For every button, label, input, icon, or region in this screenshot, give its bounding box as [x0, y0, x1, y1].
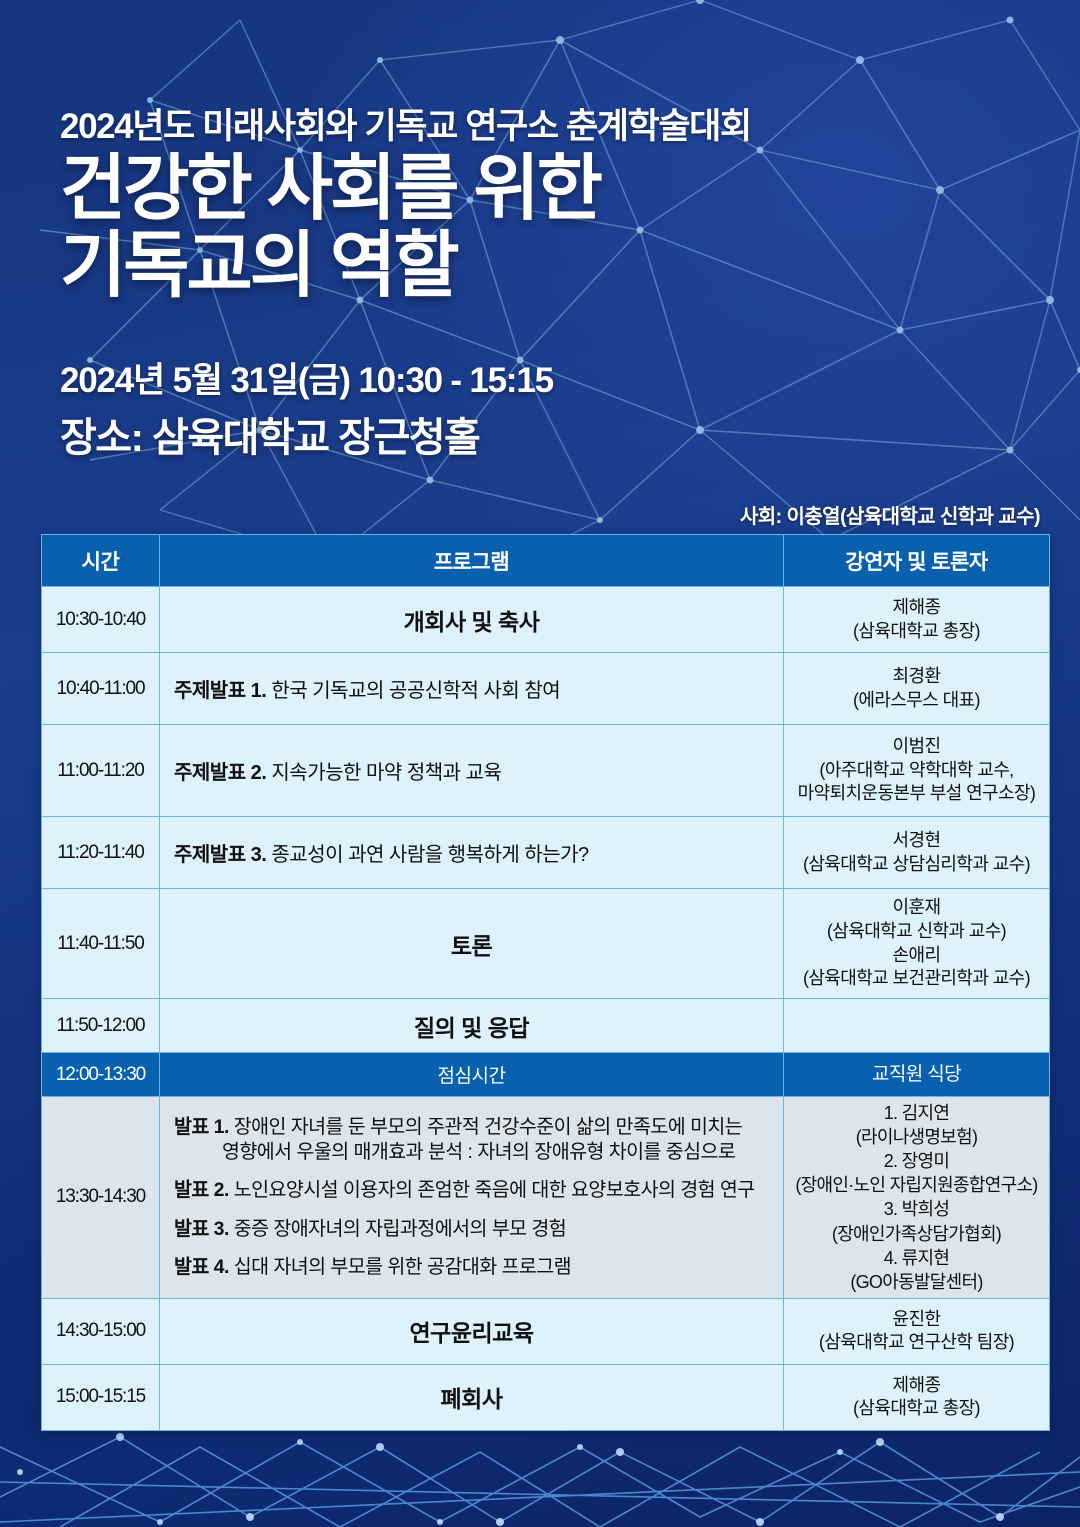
cell-speaker — [784, 999, 1050, 1053]
moderator-label: 사회: 이충열(삼육대학교 신학과 교수) — [740, 500, 1040, 529]
cell-program: 주제발표 2. 지속가능한 마약 정책과 교육 — [160, 725, 784, 817]
program-label: 주제발표 2. — [174, 762, 271, 784]
col-header-time: 시간 — [42, 535, 160, 587]
cell-speaker: 1. 김지연(라이나생명보험)2. 장영미(장애인·노인 자립지원종합연구소)3… — [784, 1097, 1050, 1299]
table-row: 13:30-14:30발표 1. 장애인 자녀를 둔 부모의 주관적 건강수준이… — [42, 1097, 1050, 1299]
title-line-1: 건강한 사회를 위한 — [60, 149, 600, 229]
cell-time: 10:30-10:40 — [42, 587, 160, 653]
schedule-table: 시간 프로그램 강연자 및 토론자 10:30-10:40개회사 및 축사제해종… — [41, 534, 1050, 1431]
program-title: 지속가능한 마약 정책과 교육 — [271, 762, 501, 784]
schedule-body: 10:30-10:40개회사 및 축사제해종(삼육대학교 총장)10:40-11… — [42, 587, 1050, 1431]
cell-program: 점심시간 — [160, 1053, 784, 1097]
cell-time: 14:30-15:00 — [42, 1298, 160, 1364]
cell-time: 10:40-11:00 — [42, 653, 160, 725]
conference-kicker: 2024년도 미래사회와 기독교 연구소 춘계학술대회 — [60, 98, 751, 149]
table-header-row: 시간 프로그램 강연자 및 토론자 — [42, 535, 1050, 587]
cell-program: 연구윤리교육 — [160, 1298, 784, 1364]
cell-program: 주제발표 1. 한국 기독교의 공공신학적 사회 참여 — [160, 653, 784, 725]
cell-program: 토론 — [160, 889, 784, 999]
cell-program: 개회사 및 축사 — [160, 587, 784, 653]
event-venue: 장소: 삼육대학교 장근청홀 — [60, 405, 479, 463]
table-row: 12:00-13:30점심시간교직원 식당 — [42, 1053, 1050, 1097]
program-title: 한국 기독교의 공공신학적 사회 참여 — [271, 680, 560, 702]
cell-speaker: 윤진한(삼육대학교 연구산학 팀장) — [784, 1298, 1050, 1364]
presentation-item: 발표 2. 노인요양시설 이용자의 존엄한 죽음에 대한 요양보호사의 경험 연… — [174, 1178, 773, 1203]
cell-time: 12:00-13:30 — [42, 1053, 160, 1097]
page-title: 건강한 사회를 위한 기독교의 역할 — [60, 155, 600, 301]
presentation-label: 발표 3. — [174, 1218, 234, 1240]
cell-speaker: 최경환(에라스무스 대표) — [784, 653, 1050, 725]
cell-program: 질의 및 응답 — [160, 999, 784, 1053]
cell-speaker: 제해종(삼육대학교 총장) — [784, 1364, 1050, 1430]
cell-time: 11:50-12:00 — [42, 999, 160, 1053]
col-header-speaker: 강연자 및 토론자 — [784, 535, 1050, 587]
presentation-title: 십대 자녀의 부모를 위한 공감대화 프로그램 — [234, 1256, 571, 1278]
cell-time: 11:00-11:20 — [42, 725, 160, 817]
cell-time: 11:40-11:50 — [42, 889, 160, 999]
cell-program: 폐회사 — [160, 1364, 784, 1430]
cell-time: 15:00-15:15 — [42, 1364, 160, 1430]
table-row: 14:30-15:00연구윤리교육윤진한(삼육대학교 연구산학 팀장) — [42, 1298, 1050, 1364]
table-row: 11:20-11:40주제발표 3. 종교성이 과연 사람을 행복하게 하는가?… — [42, 817, 1050, 889]
presentation-title-cont: 영향에서 우울의 매개효과 분석 : 자녀의 장애유형 차이를 중심으로 — [174, 1140, 773, 1165]
presentation-title: 노인요양시설 이용자의 존엄한 죽음에 대한 요양보호사의 경험 연구 — [234, 1179, 755, 1201]
cell-time: 11:20-11:40 — [42, 817, 160, 889]
presentation-title: 장애인 자녀를 둔 부모의 주관적 건강수준이 삶의 만족도에 미치는 — [234, 1116, 742, 1138]
program-label: 주제발표 1. — [174, 680, 271, 702]
event-date: 2024년 5월 31일(금) 10:30 - 15:15 — [60, 352, 553, 403]
cell-speaker: 이훈재(삼육대학교 신학과 교수)손애리(삼육대학교 보건관리학과 교수) — [784, 889, 1050, 999]
presentation-label: 발표 2. — [174, 1179, 234, 1201]
cell-speaker: 교직원 식당 — [784, 1053, 1050, 1097]
cell-speaker: 제해종(삼육대학교 총장) — [784, 587, 1050, 653]
title-line-2: 기독교의 역할 — [60, 232, 600, 300]
cell-speaker: 이범진(아주대학교 약학대학 교수,마약퇴치운동본부 부설 연구소장) — [784, 725, 1050, 817]
cell-speaker: 서경현(삼육대학교 상담심리학과 교수) — [784, 817, 1050, 889]
table-row: 11:00-11:20주제발표 2. 지속가능한 마약 정책과 교육이범진(아주… — [42, 725, 1050, 817]
presentation-label: 발표 1. — [174, 1116, 234, 1138]
network-pattern-bottom — [0, 1427, 1080, 1527]
table-row: 10:30-10:40개회사 및 축사제해종(삼육대학교 총장) — [42, 587, 1050, 653]
table-row: 10:40-11:00주제발표 1. 한국 기독교의 공공신학적 사회 참여최경… — [42, 653, 1050, 725]
col-header-program: 프로그램 — [160, 535, 784, 587]
program-label: 주제발표 3. — [174, 844, 271, 866]
poster-root: 2024년도 미래사회와 기독교 연구소 춘계학술대회 건강한 사회를 위한 기… — [0, 0, 1080, 1527]
presentation-item: 발표 3. 중증 장애자녀의 자립과정에서의 부모 경험 — [174, 1217, 773, 1242]
presentation-label: 발표 4. — [174, 1256, 234, 1278]
presentation-title: 중증 장애자녀의 자립과정에서의 부모 경험 — [234, 1218, 567, 1240]
cell-program: 주제발표 3. 종교성이 과연 사람을 행복하게 하는가? — [160, 817, 784, 889]
cell-program: 발표 1. 장애인 자녀를 둔 부모의 주관적 건강수준이 삶의 만족도에 미치… — [160, 1097, 784, 1299]
presentation-item: 발표 4. 십대 자녀의 부모를 위한 공감대화 프로그램 — [174, 1255, 773, 1280]
table-row: 11:50-12:00질의 및 응답 — [42, 999, 1050, 1053]
presentation-item: 발표 1. 장애인 자녀를 둔 부모의 주관적 건강수준이 삶의 만족도에 미치… — [174, 1115, 773, 1166]
table-row: 15:00-15:15폐회사제해종(삼육대학교 총장) — [42, 1364, 1050, 1430]
table-row: 11:40-11:50토론이훈재(삼육대학교 신학과 교수)손애리(삼육대학교 … — [42, 889, 1050, 999]
cell-time: 13:30-14:30 — [42, 1097, 160, 1299]
program-title: 종교성이 과연 사람을 행복하게 하는가? — [271, 844, 588, 866]
